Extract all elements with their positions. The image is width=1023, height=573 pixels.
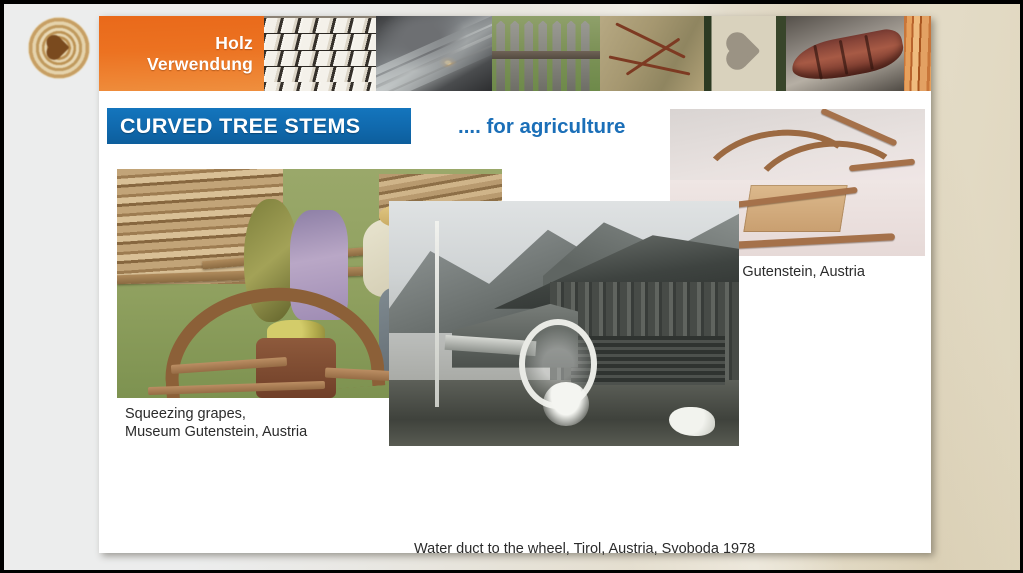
- slide-title: CURVED TREE STEMS: [120, 114, 361, 139]
- caption-squeezing-grapes: Squeezing grapes, Museum Gutenstein, Aus…: [125, 405, 307, 441]
- letterbox-bar-left: [0, 0, 4, 573]
- video-frame: Holz Verwendung: [0, 0, 1023, 573]
- slide-subtitle: .... for agriculture: [458, 115, 625, 139]
- carved-bark-photo: [600, 16, 704, 91]
- header-title-line2: Verwendung: [147, 54, 253, 75]
- letterbox-bar-top: [0, 0, 1023, 4]
- header-title-line1: Holz: [215, 33, 253, 54]
- slide-title-banner: CURVED TREE STEMS: [107, 108, 411, 144]
- heart-carved-trunk-photo: [704, 16, 786, 91]
- wooden-fence-photo: [492, 16, 600, 91]
- slide-header-band: Holz Verwendung: [99, 16, 931, 91]
- heart-icon: [48, 37, 69, 58]
- wood-grain-photo: [904, 16, 931, 91]
- carved-heart-icon: [729, 36, 760, 67]
- wood-shingles-photo: [264, 16, 376, 91]
- wooden-boat-photo: [786, 16, 904, 91]
- dark-metal-sparks-photo: [376, 16, 492, 91]
- wood-rings-heart-logo: [28, 17, 90, 79]
- caption-water-mill: Water duct to the wheel, Tirol, Austria,…: [414, 540, 755, 558]
- water-mill-photo: [389, 201, 739, 446]
- header-title-block: Holz Verwendung: [99, 16, 264, 91]
- presentation-slide: Holz Verwendung: [99, 16, 931, 553]
- boat-hull: [788, 27, 904, 87]
